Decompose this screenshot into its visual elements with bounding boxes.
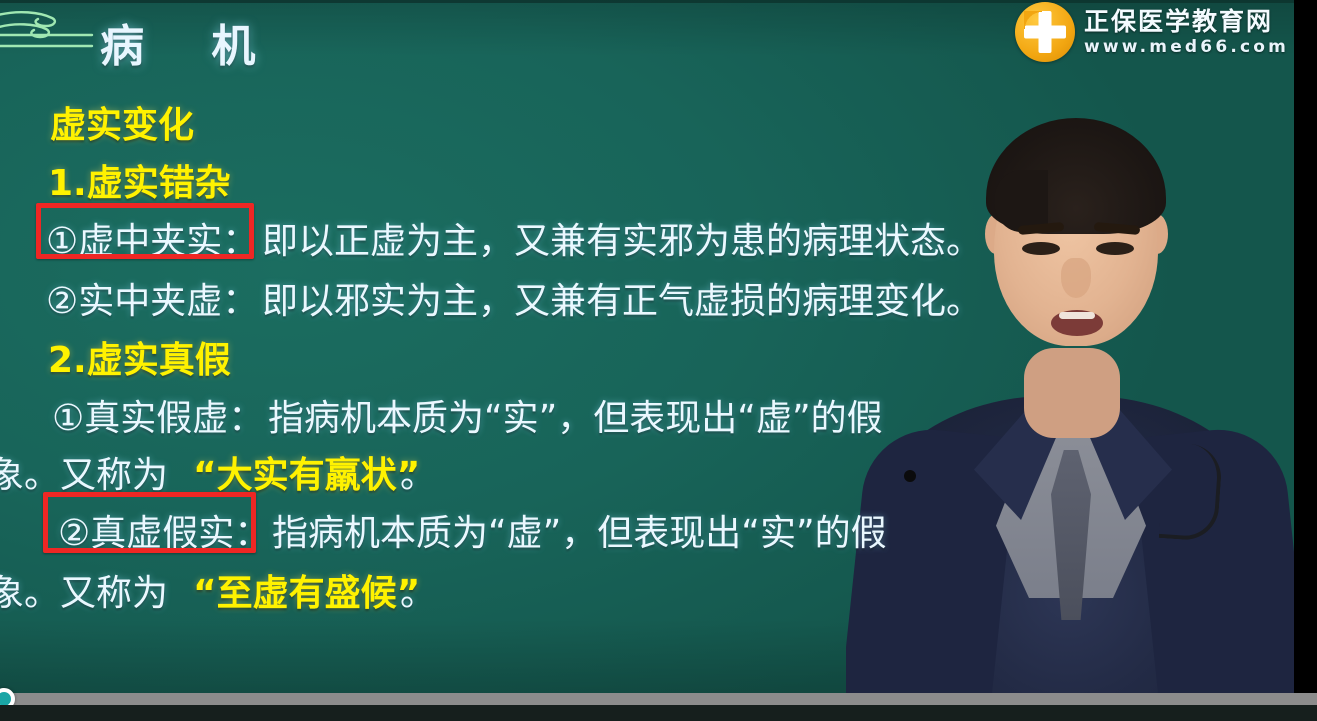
presenter-hair <box>986 118 1166 234</box>
brand-name: 正保医学教育网 <box>1084 9 1289 34</box>
slide-sub-1-1-body: 即以正虚为主，又兼有实邪为患的病理状态。 <box>262 212 982 264</box>
slide-sub-2-2-wrap-a: 象。又称为 <box>0 564 168 616</box>
slide-sub-2-2-body: 指病机本质为“虚”，但表现出“实”的假 <box>272 504 887 556</box>
cloud-swirl-ornament-icon <box>0 8 114 56</box>
presenter-nose <box>1061 258 1091 298</box>
slide-sub-2-1-wrap-a: 象。又称为 <box>0 446 168 498</box>
slide-sub-2-1-label: ①真实假虚： <box>52 389 264 441</box>
presenter-eye-right <box>1096 242 1134 255</box>
slide-sub-1-2-body: 即以邪实为主，又兼有正气虚损的病理变化。 <box>262 272 982 324</box>
presenter-lapel-mic-icon <box>904 470 916 482</box>
right-letterbox <box>1294 0 1317 703</box>
slide-item-2: 2.虚实真假 <box>48 331 231 383</box>
highlight-box-zhenxujiashi <box>43 492 256 553</box>
slide-sub-2-1-wrap-b: 。 <box>400 446 436 498</box>
slide-heading: 虚实变化 <box>50 96 194 148</box>
video-seek-bar[interactable] <box>0 693 1317 705</box>
medical-cross-icon <box>1015 2 1075 62</box>
slide-sub-2-2-wrap-b: 。 <box>400 564 436 616</box>
presenter-neck <box>1024 348 1120 438</box>
slide-item-1: 1.虚实错杂 <box>48 154 231 206</box>
page-title: 病 机 <box>100 10 281 74</box>
slide-sub-1-2-label: ②实中夹虚： <box>46 272 258 324</box>
presenter-eye-left <box>1022 242 1060 255</box>
slide-sub-2-1-quote: “大实有羸状” <box>193 446 420 498</box>
brand-text: 正保医学教育网 www.med66.com <box>1084 9 1289 56</box>
highlight-box-xuzhongjiashi <box>36 203 254 259</box>
brand-url: www.med66.com <box>1084 39 1289 56</box>
brand-logo: 正保医学教育网 www.med66.com <box>1015 2 1289 62</box>
presenter-mouth <box>1051 310 1103 336</box>
player-bottom-bar <box>0 705 1317 721</box>
slide-header: 病 机 正保医学教育网 www.med66.com <box>0 0 1294 78</box>
slide-sub-2-2-quote: “至虚有盛候” <box>193 564 420 616</box>
presenter-video <box>846 78 1294 703</box>
slide-sub-2-1-body: 指病机本质为“实”，但表现出“虚”的假 <box>268 389 883 441</box>
cross-notch <box>1024 11 1042 29</box>
video-lecture-screen: 病 机 正保医学教育网 www.med66.com <box>0 0 1317 721</box>
